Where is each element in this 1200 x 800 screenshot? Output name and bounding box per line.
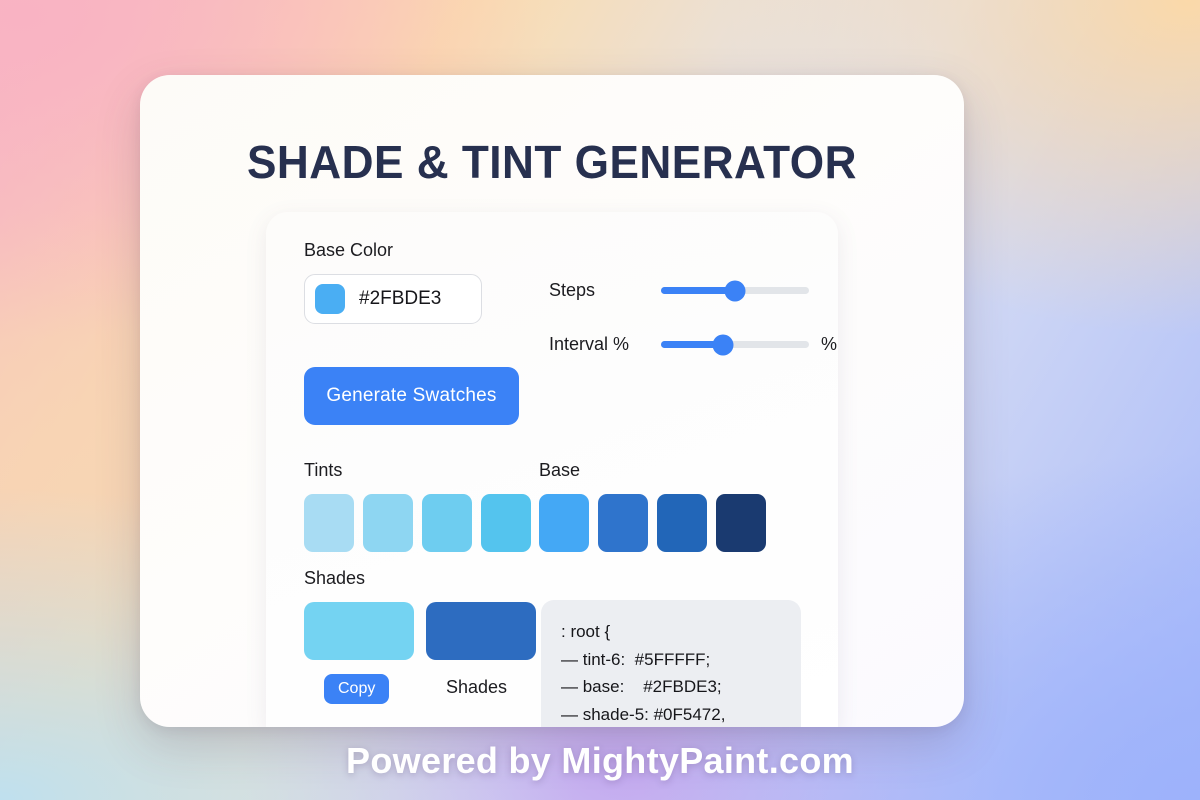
tint-swatch-2[interactable] [363, 494, 413, 552]
interval-slider-label: Interval % [549, 334, 649, 355]
content-card: Base Color #2FBDE3 Generate Swatches Ste… [266, 212, 838, 727]
shade-block-1[interactable] [304, 602, 414, 660]
css-line-1: : root { [561, 618, 781, 646]
interval-slider-suffix: % [821, 334, 837, 355]
base-swatch-2[interactable] [598, 494, 648, 552]
app-panel: SHADE & TINT GENERATOR Base Color #2FBDE… [140, 75, 964, 727]
tint-swatch-4[interactable] [481, 494, 531, 552]
shades-swatch-row [304, 602, 536, 660]
base-swatch-row [539, 494, 766, 552]
base-color-value: #2FBDE3 [359, 288, 441, 310]
interval-slider-thumb[interactable] [713, 334, 734, 355]
css-line-4: — shade-5: #0F5472, [561, 701, 781, 727]
base-color-field: Base Color #2FBDE3 [304, 240, 504, 324]
base-swatch-3[interactable] [657, 494, 707, 552]
page-title: SHADE & TINT GENERATOR [156, 135, 947, 189]
steps-slider-label: Steps [549, 280, 649, 301]
tints-group-label: Tints [304, 460, 342, 481]
tints-swatch-row [304, 494, 531, 552]
footer-branding: Powered by MightyPaint.com [0, 740, 1200, 782]
color-swatch-chip[interactable] [315, 284, 345, 314]
tint-swatch-1[interactable] [304, 494, 354, 552]
css-output-panel[interactable]: : root {— tint-6: #5FFFFF;— base: #2FBDE… [541, 600, 801, 727]
copy-button[interactable]: Copy [324, 674, 389, 704]
shades-caption: Shades [446, 677, 507, 698]
base-swatch-1[interactable] [539, 494, 589, 552]
base-swatch-4[interactable] [716, 494, 766, 552]
interval-slider-track[interactable] [661, 341, 809, 348]
base-color-label: Base Color [304, 240, 504, 261]
steps-slider-row: Steps [549, 280, 821, 301]
shade-block-2[interactable] [426, 602, 536, 660]
generate-swatches-button[interactable]: Generate Swatches [304, 367, 519, 425]
css-line-2: — tint-6: #5FFFFF; [561, 646, 781, 674]
base-color-input[interactable]: #2FBDE3 [304, 274, 482, 324]
base-group-label: Base [539, 460, 580, 481]
interval-slider-row: Interval % % [549, 334, 837, 355]
shades-group-label: Shades [304, 568, 365, 589]
steps-slider-thumb[interactable] [725, 280, 746, 301]
steps-slider-track[interactable] [661, 287, 809, 294]
css-line-3: — base: #2FBDE3; [561, 673, 781, 701]
tint-swatch-3[interactable] [422, 494, 472, 552]
